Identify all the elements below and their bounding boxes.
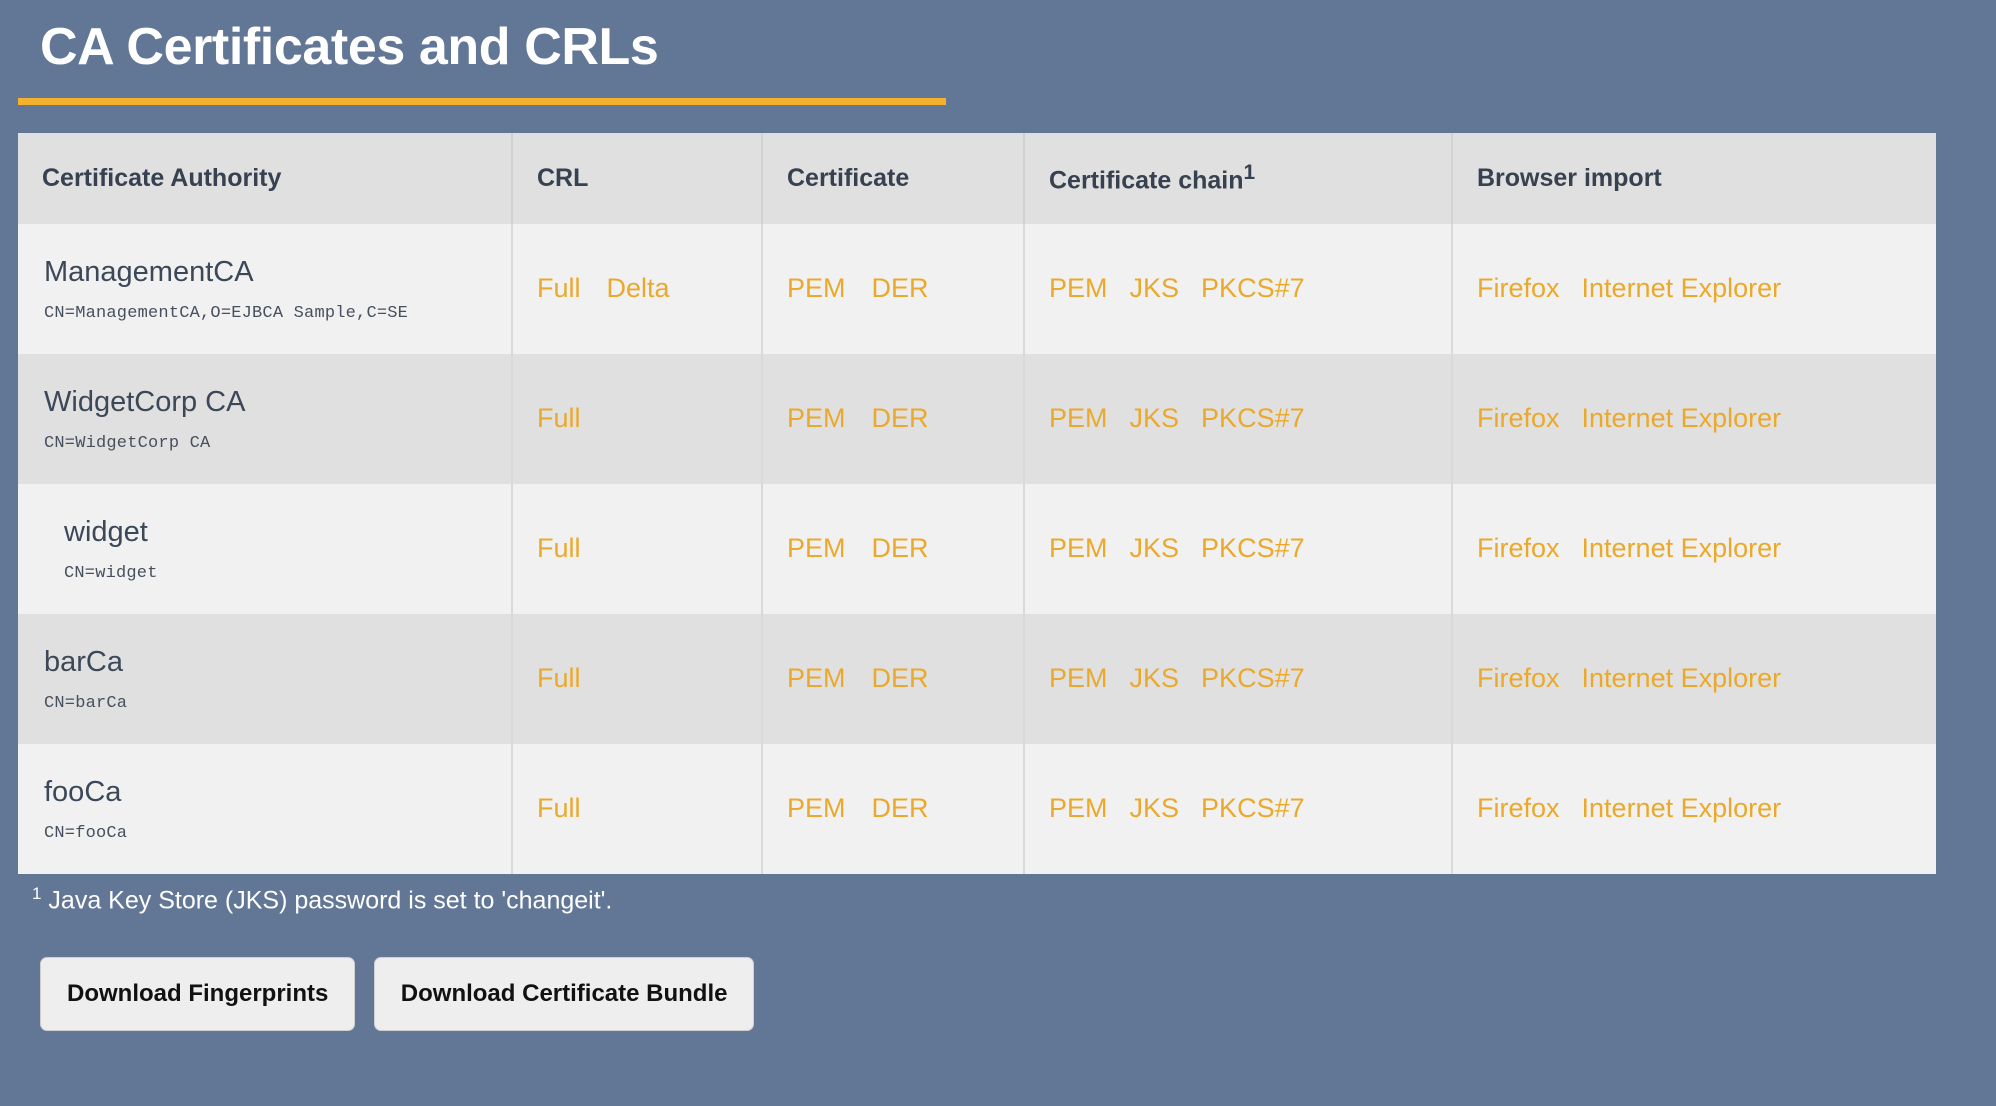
certificate-link[interactable]: PEM [787,273,846,304]
certificate-chain-link[interactable]: PEM [1049,273,1108,304]
cell-certificate-chain: PEMJKSPKCS#7 [1024,354,1452,484]
cell-crl-links: Full [513,403,761,434]
cell-certificate-authority: widgetCN=widget [18,484,512,614]
column-header-certificate-authority: Certificate Authority [18,133,512,223]
table-row: widgetCN=widgetFullPEMDERPEMJKSPKCS#7Fir… [18,484,1936,614]
column-header-certificate-chain-label: Certificate chain [1049,167,1244,195]
cell-browser-import: FirefoxInternet Explorer [1452,484,1936,614]
table-header-row: Certificate Authority CRL Certificate Ce… [18,133,1936,223]
ca-name: fooCa [44,774,511,810]
cell-certificate-authority: barCaCN=barCa [18,614,512,744]
footnote: 1 Java Key Store (JKS) password is set t… [32,884,1978,915]
cell-certificate-authority: WidgetCorp CACN=WidgetCorp CA [18,354,512,484]
browser-import-link[interactable]: Firefox [1477,793,1560,824]
cell-certificate: PEMDER [762,614,1024,744]
cell-certificate-chain: PEMJKSPKCS#7 [1024,614,1452,744]
browser-import-link[interactable]: Firefox [1477,663,1560,694]
browser-import-link[interactable]: Internet Explorer [1582,793,1782,824]
crl-link[interactable]: Full [537,533,581,564]
cell-browser-import-links: FirefoxInternet Explorer [1453,533,1936,564]
column-header-certificate-chain: Certificate chain1 [1024,133,1452,223]
cell-browser-import-links: FirefoxInternet Explorer [1453,663,1936,694]
cell-crl: Full [512,354,762,484]
ca-identity: barCaCN=barCa [18,644,511,713]
download-certificate-bundle-button[interactable]: Download Certificate Bundle [374,957,755,1031]
certificate-chain-link[interactable]: PEM [1049,403,1108,434]
browser-import-link[interactable]: Internet Explorer [1582,663,1782,694]
certificate-chain-link[interactable]: PKCS#7 [1201,273,1305,304]
cell-certificate-chain-links: PEMJKSPKCS#7 [1025,273,1451,304]
cell-certificate: PEMDER [762,354,1024,484]
certificate-chain-link[interactable]: JKS [1130,533,1180,564]
certificate-link[interactable]: PEM [787,533,846,564]
page-container: CA Certificates and CRLs Certificate Aut… [0,0,1996,1106]
browser-import-link[interactable]: Internet Explorer [1582,403,1782,434]
certificate-link[interactable]: PEM [787,793,846,824]
ca-identity: fooCaCN=fooCa [18,774,511,843]
table-row: WidgetCorp CACN=WidgetCorp CAFullPEMDERP… [18,354,1936,484]
cell-crl-links: FullDelta [513,273,761,304]
cell-certificate-chain-links: PEMJKSPKCS#7 [1025,663,1451,694]
cell-certificate-chain: PEMJKSPKCS#7 [1024,744,1452,874]
ca-name: ManagementCA [44,254,511,290]
cell-crl-links: Full [513,793,761,824]
cell-certificate-links: PEMDER [763,273,1023,304]
certificate-chain-link[interactable]: PKCS#7 [1201,403,1305,434]
browser-import-link[interactable]: Internet Explorer [1582,533,1782,564]
cell-certificate-authority: fooCaCN=fooCa [18,744,512,874]
cell-crl-links: Full [513,663,761,694]
cell-browser-import-links: FirefoxInternet Explorer [1453,273,1936,304]
cell-certificate-chain-links: PEMJKSPKCS#7 [1025,793,1451,824]
ca-name: WidgetCorp CA [44,384,511,420]
cell-certificate: PEMDER [762,484,1024,614]
title-underline-rule [18,98,946,105]
cell-browser-import: FirefoxInternet Explorer [1452,744,1936,874]
ca-identity: ManagementCACN=ManagementCA,O=EJBCA Samp… [18,254,511,323]
ca-identity: widgetCN=widget [18,514,511,583]
cell-certificate-authority: ManagementCACN=ManagementCA,O=EJBCA Samp… [18,224,512,354]
browser-import-link[interactable]: Firefox [1477,273,1560,304]
certificate-link[interactable]: DER [872,533,929,564]
table-row: barCaCN=barCaFullPEMDERPEMJKSPKCS#7Firef… [18,614,1936,744]
ca-distinguished-name: CN=widget [64,564,511,583]
cell-crl: Full [512,614,762,744]
certificate-chain-link[interactable]: JKS [1130,403,1180,434]
ca-distinguished-name: CN=WidgetCorp CA [44,434,511,453]
ca-distinguished-name: CN=fooCa [44,824,511,843]
download-fingerprints-button[interactable]: Download Fingerprints [40,957,355,1031]
column-header-browser-import: Browser import [1452,133,1936,223]
crl-link[interactable]: Full [537,273,581,304]
cell-browser-import: FirefoxInternet Explorer [1452,614,1936,744]
column-header-certificate: Certificate [762,133,1024,223]
cell-certificate-chain-links: PEMJKSPKCS#7 [1025,403,1451,434]
cell-browser-import-links: FirefoxInternet Explorer [1453,403,1936,434]
certificate-link[interactable]: DER [872,663,929,694]
cell-certificate-chain: PEMJKSPKCS#7 [1024,224,1452,354]
certificate-chain-link[interactable]: PKCS#7 [1201,663,1305,694]
certificate-link[interactable]: DER [872,793,929,824]
crl-link[interactable]: Delta [607,273,670,304]
cell-crl: Full [512,484,762,614]
cell-crl-links: Full [513,533,761,564]
cell-browser-import: FirefoxInternet Explorer [1452,224,1936,354]
certificate-chain-link[interactable]: JKS [1130,793,1180,824]
cell-certificate-links: PEMDER [763,533,1023,564]
browser-import-link[interactable]: Firefox [1477,533,1560,564]
crl-link[interactable]: Full [537,663,581,694]
page-title: CA Certificates and CRLs [18,0,1978,76]
ca-identity: WidgetCorp CACN=WidgetCorp CA [18,384,511,453]
cell-certificate: PEMDER [762,224,1024,354]
browser-import-link[interactable]: Firefox [1477,403,1560,434]
certificate-chain-link[interactable]: PEM [1049,663,1108,694]
certificate-chain-link[interactable]: PKCS#7 [1201,793,1305,824]
footnote-text: Java Key Store (JKS) password is set to … [41,886,612,914]
browser-import-link[interactable]: Internet Explorer [1582,273,1782,304]
certificate-chain-link[interactable]: PEM [1049,533,1108,564]
table-body: ManagementCACN=ManagementCA,O=EJBCA Samp… [18,224,1936,874]
certificate-link[interactable]: PEM [787,403,846,434]
cell-crl: FullDelta [512,224,762,354]
certificate-link[interactable]: PEM [787,663,846,694]
cell-certificate-links: PEMDER [763,403,1023,434]
table-row: fooCaCN=fooCaFullPEMDERPEMJKSPKCS#7Firef… [18,744,1936,874]
ca-distinguished-name: CN=ManagementCA,O=EJBCA Sample,C=SE [44,304,511,323]
footnote-marker-chain: 1 [1244,161,1256,184]
ca-distinguished-name: CN=barCa [44,694,511,713]
column-header-crl: CRL [512,133,762,223]
cell-browser-import: FirefoxInternet Explorer [1452,354,1936,484]
cell-crl: Full [512,744,762,874]
cell-browser-import-links: FirefoxInternet Explorer [1453,793,1936,824]
ca-name: barCa [44,644,511,680]
cell-certificate-chain: PEMJKSPKCS#7 [1024,484,1452,614]
button-bar: Download Fingerprints Download Certifica… [40,957,1978,1031]
certificate-link[interactable]: DER [872,403,929,434]
crl-link[interactable]: Full [537,403,581,434]
certificate-link[interactable]: DER [872,273,929,304]
cell-certificate-links: PEMDER [763,793,1023,824]
crl-link[interactable]: Full [537,793,581,824]
certificate-chain-link[interactable]: JKS [1130,663,1180,694]
certificate-chain-link[interactable]: PKCS#7 [1201,533,1305,564]
certificate-chain-link[interactable]: JKS [1130,273,1180,304]
ca-name: widget [64,514,511,550]
table-header: Certificate Authority CRL Certificate Ce… [18,133,1936,223]
certificate-chain-link[interactable]: PEM [1049,793,1108,824]
cell-certificate-links: PEMDER [763,663,1023,694]
ca-certificates-table: Certificate Authority CRL Certificate Ce… [18,133,1936,873]
cell-certificate-chain-links: PEMJKSPKCS#7 [1025,533,1451,564]
table-row: ManagementCACN=ManagementCA,O=EJBCA Samp… [18,224,1936,354]
cell-certificate: PEMDER [762,744,1024,874]
